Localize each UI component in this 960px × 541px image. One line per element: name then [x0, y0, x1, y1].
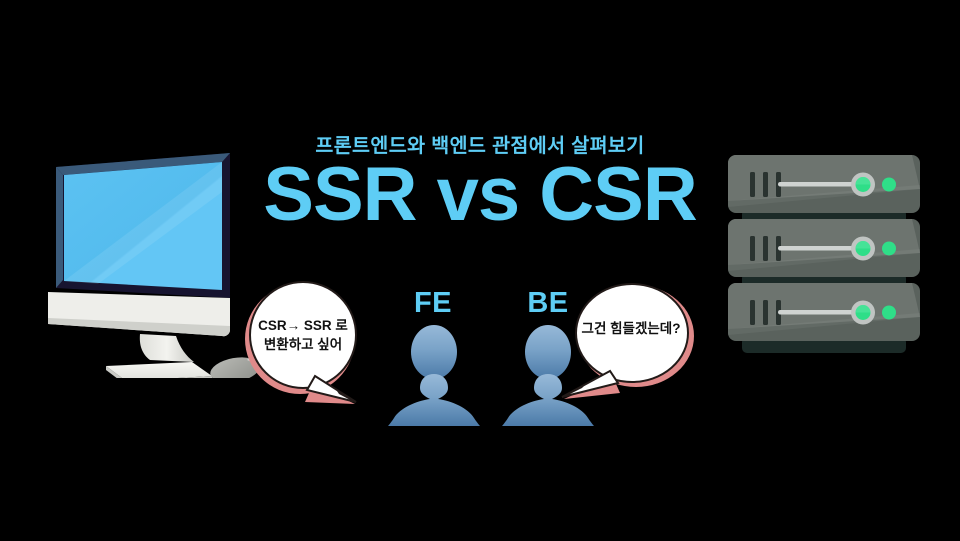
- role-label-frontend: FE: [388, 287, 478, 320]
- bubble-text-frontend: CSR→ SSR 로 변환하고 싶어: [255, 316, 351, 354]
- bubble-body: [562, 284, 688, 398]
- speech-bubble-backend: 그건 힘들겠는데?: [558, 281, 710, 401]
- server-unit: [728, 283, 920, 353]
- speech-bubble-frontend: CSR→ SSR 로 변환하고 싶어: [243, 276, 361, 420]
- monitor-neck: [140, 334, 194, 362]
- monitor-base: [106, 362, 212, 378]
- slide-canvas: 프론트엔드와 백엔드 관점에서 살펴보기 SSR vs CSR FE BE: [0, 0, 960, 541]
- bubble-text-backend: 그건 힘들겠는데?: [572, 319, 690, 338]
- avatar-frontend: [386, 322, 482, 426]
- page-title: SSR vs CSR: [0, 157, 960, 233]
- person-silhouette-icon: [388, 325, 480, 426]
